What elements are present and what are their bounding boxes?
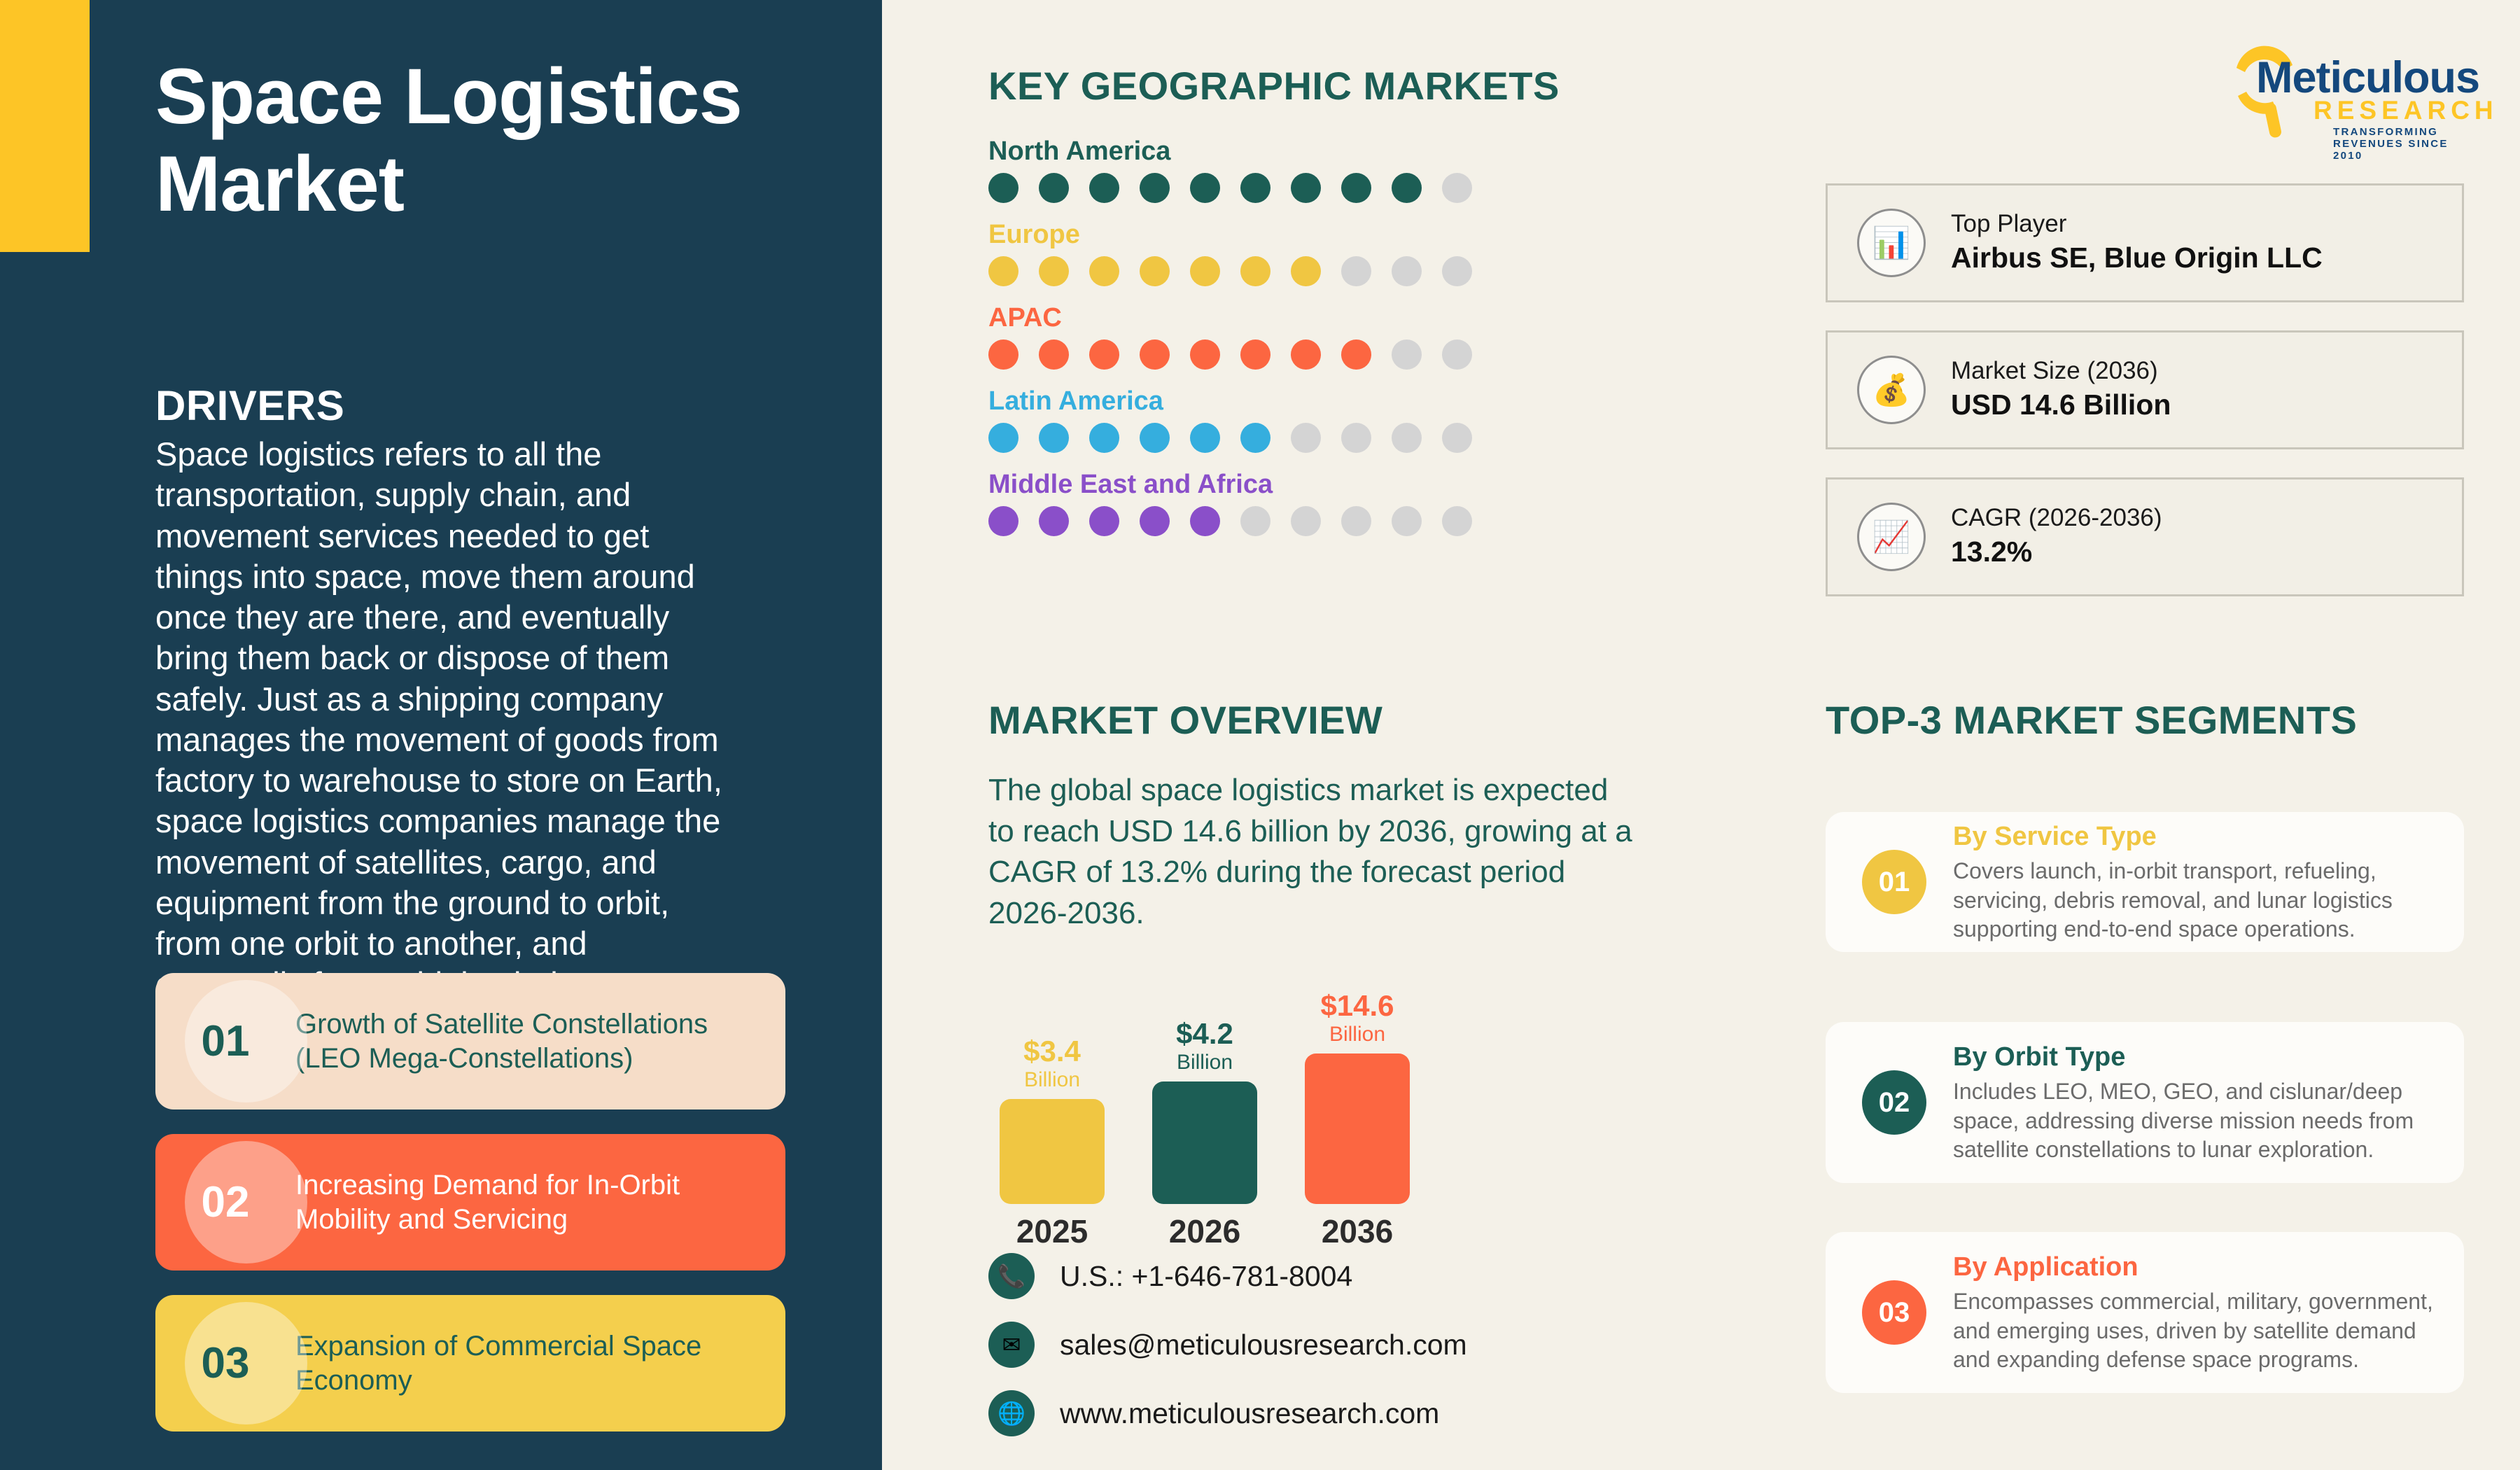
- geo-dot-empty: [1392, 423, 1422, 453]
- geo-dot-filled: [1140, 423, 1170, 453]
- accent-bar: [0, 0, 90, 252]
- geo-dot-filled: [1190, 339, 1220, 370]
- market-segments-heading: TOP-3 MARKET SEGMENTS: [1826, 697, 2357, 743]
- geo-label: APAC: [988, 303, 1472, 333]
- geo-row-middle-east-and-africa: Middle East and Africa: [988, 470, 1472, 536]
- geo-dot-filled: [1240, 339, 1270, 370]
- bar-value-unit: Billion: [1305, 1024, 1410, 1045]
- geo-dot-filled: [1240, 256, 1270, 286]
- driver-card-3[interactable]: 03 Expansion of Commercial Space Economy: [155, 1295, 785, 1431]
- contact-row-website[interactable]: 🌐 www.meticulousresearch.com: [988, 1390, 1467, 1436]
- logo-tagline: TRANSFORMING REVENUES SINCE 2010: [2333, 126, 2478, 162]
- driver-number-1: 01: [202, 1016, 250, 1066]
- driver-card-2[interactable]: 02 Increasing Demand for In-Orbit Mobili…: [155, 1134, 785, 1270]
- info-card-market-size: 💰 Market Size (2036) USD 14.6 Billion: [1826, 330, 2464, 449]
- trend-chart-icon: 📈: [1857, 503, 1926, 571]
- segment-badge-3: 03: [1862, 1280, 1926, 1345]
- geo-dot-filled: [1291, 173, 1321, 203]
- bar-rect-2026: [1152, 1081, 1257, 1204]
- info-value-cagr: 13.2%: [1951, 533, 2162, 570]
- geo-dot-filled: [988, 256, 1018, 286]
- segment-desc-3: Encompasses commercial, military, govern…: [1953, 1287, 2435, 1375]
- segment-title-3: By Application: [1953, 1250, 2435, 1284]
- email-icon: ✉: [988, 1322, 1035, 1368]
- page-title: Space Logistics Market: [155, 52, 855, 228]
- driver-number-2: 02: [202, 1177, 250, 1227]
- geo-dot-scale: [988, 256, 1472, 286]
- geo-dot-filled: [1140, 339, 1170, 370]
- geo-label: North America: [988, 136, 1472, 167]
- bar-rect-2036: [1305, 1053, 1410, 1204]
- segment-card-3[interactable]: 03 By Application Encompasses commercial…: [1826, 1232, 2464, 1393]
- bar-group-2036: $14.6Billion2036: [1305, 1053, 1410, 1204]
- bar-group-2025: $3.4Billion2025: [1000, 1099, 1105, 1204]
- info-value-market-size: USD 14.6 Billion: [1951, 386, 2171, 423]
- geo-dot-empty: [1291, 506, 1321, 536]
- geo-dot-filled: [1190, 256, 1220, 286]
- contact-row-email[interactable]: ✉ sales@meticulousresearch.com: [988, 1322, 1467, 1368]
- driver-card-1[interactable]: 01 Growth of Satellite Constellations (L…: [155, 973, 785, 1109]
- contact-block: 📞 U.S.: +1-646-781-8004 ✉ sales@meticulo…: [988, 1253, 1467, 1459]
- geo-dot-filled: [1240, 423, 1270, 453]
- geo-dot-filled: [1341, 173, 1371, 203]
- money-bag-icon: 💰: [1857, 356, 1926, 424]
- info-label-cagr: CAGR (2026-2036): [1951, 503, 2162, 533]
- bar-value-amount: $3.4: [1023, 1035, 1081, 1067]
- contact-row-phone[interactable]: 📞 U.S.: +1-646-781-8004: [988, 1253, 1467, 1299]
- globe-icon: 🌐: [988, 1390, 1035, 1436]
- geo-dot-filled: [1089, 256, 1119, 286]
- bar-value-unit: Billion: [1000, 1070, 1105, 1091]
- logo-subword: RESEARCH: [2313, 96, 2498, 125]
- geo-dot-empty: [1341, 256, 1371, 286]
- geo-dot-empty: [1442, 506, 1472, 536]
- info-card-top-player: 📊 Top Player Airbus SE, Blue Origin LLC: [1826, 183, 2464, 302]
- geo-dot-empty: [1341, 423, 1371, 453]
- segment-badge-2: 02: [1862, 1070, 1926, 1135]
- geo-dot-filled: [1190, 173, 1220, 203]
- geo-dot-filled: [1240, 173, 1270, 203]
- market-size-bar-chart: $3.4Billion2025$4.2Billion2026$14.6Billi…: [988, 980, 1520, 1253]
- segment-desc-2: Includes LEO, MEO, GEO, and cislunar/dee…: [1953, 1077, 2435, 1165]
- drivers-heading: DRIVERS: [155, 381, 344, 430]
- bar-value-label-2026: $4.2Billion: [1152, 1019, 1257, 1073]
- geo-dot-empty: [1442, 173, 1472, 203]
- geo-label: Latin America: [988, 386, 1472, 416]
- geo-dot-filled: [1039, 339, 1069, 370]
- geo-row-europe: Europe: [988, 220, 1472, 286]
- geo-dot-filled: [1341, 339, 1371, 370]
- geo-dot-scale: [988, 506, 1472, 536]
- geo-dot-filled: [988, 506, 1018, 536]
- meticulous-research-logo[interactable]: Meticulous RESEARCH TRANSFORMING REVENUE…: [2222, 38, 2478, 143]
- info-label-top-player: Top Player: [1951, 209, 2323, 239]
- geo-dot-filled: [1039, 256, 1069, 286]
- info-card-cagr: 📈 CAGR (2026-2036) 13.2%: [1826, 477, 2464, 596]
- info-value-top-player: Airbus SE, Blue Origin LLC: [1951, 239, 2323, 276]
- segment-card-1[interactable]: 01 By Service Type Covers launch, in-orb…: [1826, 812, 2464, 952]
- driver-badge-3: 03: [155, 1295, 295, 1431]
- geo-dot-filled: [1140, 173, 1170, 203]
- geo-dot-scale: [988, 339, 1472, 370]
- geo-dot-filled: [988, 173, 1018, 203]
- geo-dot-filled: [1140, 506, 1170, 536]
- bar-value-unit: Billion: [1152, 1052, 1257, 1073]
- geo-dot-filled: [1291, 256, 1321, 286]
- bar-value-amount: $14.6: [1320, 989, 1394, 1022]
- segment-badge-1: 01: [1862, 850, 1926, 914]
- geo-dot-empty: [1392, 256, 1422, 286]
- geo-dot-scale: [988, 423, 1472, 453]
- driver-text-2: Increasing Demand for In-Orbit Mobility …: [295, 1168, 785, 1237]
- geo-dot-filled: [1392, 173, 1422, 203]
- geo-dot-scale: [988, 173, 1472, 203]
- geo-label: Middle East and Africa: [988, 470, 1472, 500]
- geo-dot-filled: [1190, 506, 1220, 536]
- contact-phone-text: U.S.: +1-646-781-8004: [1060, 1260, 1352, 1293]
- driver-badge-1: 01: [155, 973, 295, 1109]
- geo-row-north-america: North America: [988, 136, 1472, 203]
- bar-value-label-2036: $14.6Billion: [1305, 991, 1410, 1045]
- bar-value-label-2025: $3.4Billion: [1000, 1037, 1105, 1091]
- driver-text-1: Growth of Satellite Constellations (LEO …: [295, 1007, 785, 1076]
- bar-rect-2025: [1000, 1099, 1105, 1204]
- geo-dot-filled: [1089, 506, 1119, 536]
- contact-email-text: sales@meticulousresearch.com: [1060, 1329, 1467, 1361]
- info-label-market-size: Market Size (2036): [1951, 356, 2171, 386]
- bar-category-label: 2026: [1152, 1212, 1257, 1250]
- segment-title-2: By Orbit Type: [1953, 1040, 2435, 1074]
- geo-dot-empty: [1442, 256, 1472, 286]
- geo-dot-empty: [1240, 506, 1270, 536]
- geo-dot-filled: [1140, 256, 1170, 286]
- geo-dot-empty: [1392, 339, 1422, 370]
- geographic-markets-heading: KEY GEOGRAPHIC MARKETS: [988, 63, 1560, 108]
- geo-dot-filled: [1039, 423, 1069, 453]
- phone-icon: 📞: [988, 1253, 1035, 1299]
- geo-row-latin-america: Latin America: [988, 386, 1472, 453]
- driver-badge-2: 02: [155, 1134, 295, 1270]
- geo-dot-empty: [1392, 506, 1422, 536]
- segment-desc-1: Covers launch, in-orbit transport, refue…: [1953, 857, 2435, 944]
- segment-title-1: By Service Type: [1953, 820, 2435, 854]
- geo-dot-filled: [988, 423, 1018, 453]
- market-overview-heading: MARKET OVERVIEW: [988, 697, 1382, 743]
- geo-dot-filled: [1291, 339, 1321, 370]
- left-panel: Space Logistics Market DRIVERS Space log…: [0, 0, 882, 1470]
- segment-card-2[interactable]: 02 By Orbit Type Includes LEO, MEO, GEO,…: [1826, 1022, 2464, 1183]
- geo-dot-filled: [1089, 173, 1119, 203]
- bar-category-label: 2025: [1000, 1212, 1105, 1250]
- geo-label: Europe: [988, 220, 1472, 250]
- geo-dot-empty: [1442, 423, 1472, 453]
- driver-text-3: Expansion of Commercial Space Economy: [295, 1329, 785, 1398]
- bar-chart-icon: 📊: [1857, 209, 1926, 277]
- geo-dot-filled: [1039, 506, 1069, 536]
- geo-dot-filled: [1089, 423, 1119, 453]
- geo-dot-empty: [1291, 423, 1321, 453]
- driver-number-3: 03: [202, 1338, 250, 1388]
- geographic-markets-list: North AmericaEuropeAPACLatin AmericaMidd…: [988, 136, 1472, 553]
- geo-dot-filled: [1089, 339, 1119, 370]
- geo-dot-empty: [1341, 506, 1371, 536]
- geo-dot-filled: [988, 339, 1018, 370]
- market-overview-text: The global space logistics market is exp…: [988, 770, 1632, 934]
- geo-dot-empty: [1442, 339, 1472, 370]
- bar-value-amount: $4.2: [1176, 1017, 1233, 1050]
- geo-dot-filled: [1039, 173, 1069, 203]
- geo-dot-filled: [1190, 423, 1220, 453]
- geo-row-apac: APAC: [988, 303, 1472, 370]
- drivers-body-text: Space logistics refers to all the transp…: [155, 434, 743, 1046]
- bar-category-label: 2036: [1305, 1212, 1410, 1250]
- contact-website-text: www.meticulousresearch.com: [1060, 1397, 1439, 1430]
- bar-group-2026: $4.2Billion2026: [1152, 1081, 1257, 1204]
